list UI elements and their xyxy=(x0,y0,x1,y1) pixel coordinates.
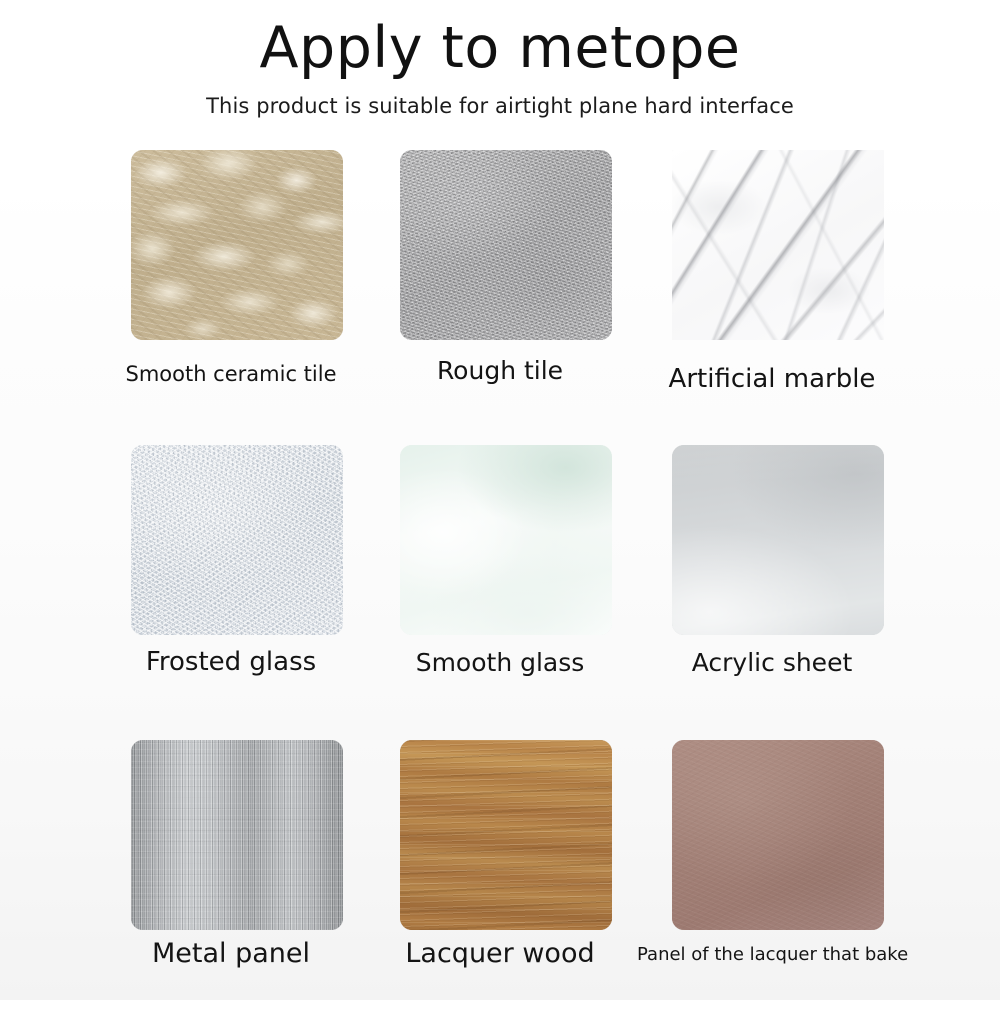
metal-panel-swatch xyxy=(131,740,343,930)
swatch-wrap xyxy=(637,445,907,641)
bake-lacquer-panel-texture xyxy=(672,740,884,930)
bake-lacquer-panel-swatch xyxy=(672,740,884,930)
ceramic-tile-swatch xyxy=(131,150,343,340)
material-item-lacquer-wood: Lacquer wood xyxy=(365,730,635,1025)
material-item-bake-lacquer-panel: Panel of the lacquer that bake xyxy=(637,730,907,1025)
acrylic-sheet-swatch xyxy=(672,445,884,635)
material-label: Smooth glass xyxy=(365,648,635,677)
page-subtitle: This product is suitable for airtight pl… xyxy=(0,80,1000,118)
material-label: Metal panel xyxy=(96,938,366,969)
lacquer-wood-swatch xyxy=(400,740,612,930)
page-title: Apply to metope xyxy=(0,0,1000,80)
swatch-wrap xyxy=(637,740,907,936)
material-grid: Smooth ceramic tile Rough tile Artificia… xyxy=(0,140,1000,1025)
material-item-rough-tile: Rough tile xyxy=(365,140,635,435)
material-label: Lacquer wood xyxy=(365,938,635,969)
frosted-glass-texture xyxy=(131,445,343,635)
metal-panel-texture xyxy=(131,740,343,930)
ceramic-tile-texture xyxy=(131,150,343,340)
artificial-marble-texture xyxy=(672,150,884,340)
material-item-smooth-ceramic-tile: Smooth ceramic tile xyxy=(96,140,366,435)
swatch-wrap xyxy=(637,150,907,346)
material-row: Frosted glass Smooth glass Acrylic sheet xyxy=(0,435,1000,730)
swatch-wrap xyxy=(365,740,635,936)
material-label: Frosted glass xyxy=(96,647,366,677)
material-row: Metal panel Lacquer wood Panel of the la… xyxy=(0,730,1000,1025)
frosted-glass-swatch xyxy=(131,445,343,635)
infographic-page: Apply to metope This product is suitable… xyxy=(0,0,1000,1000)
material-item-frosted-glass: Frosted glass xyxy=(96,435,366,730)
material-item-metal-panel: Metal panel xyxy=(96,730,366,1025)
swatch-wrap xyxy=(96,445,366,641)
material-item-artificial-marble: Artificial marble xyxy=(637,140,907,435)
smooth-glass-texture xyxy=(400,445,612,635)
rough-tile-swatch xyxy=(400,150,612,340)
material-item-smooth-glass: Smooth glass xyxy=(365,435,635,730)
swatch-wrap xyxy=(96,740,366,936)
smooth-glass-swatch xyxy=(400,445,612,635)
material-row: Smooth ceramic tile Rough tile Artificia… xyxy=(0,140,1000,435)
acrylic-sheet-texture xyxy=(672,445,884,635)
material-label: Smooth ceramic tile xyxy=(96,362,366,386)
swatch-wrap xyxy=(365,445,635,641)
swatch-wrap xyxy=(96,150,366,346)
material-label: Acrylic sheet xyxy=(637,648,907,677)
header: Apply to metope This product is suitable… xyxy=(0,0,1000,118)
swatch-wrap xyxy=(365,150,635,346)
material-label: Artificial marble xyxy=(637,364,907,394)
material-label: Rough tile xyxy=(365,356,635,385)
material-item-acrylic-sheet: Acrylic sheet xyxy=(637,435,907,730)
lacquer-wood-texture xyxy=(400,740,612,930)
rough-tile-texture xyxy=(400,150,612,340)
artificial-marble-swatch xyxy=(672,150,884,340)
material-label: Panel of the lacquer that bake xyxy=(637,944,907,965)
